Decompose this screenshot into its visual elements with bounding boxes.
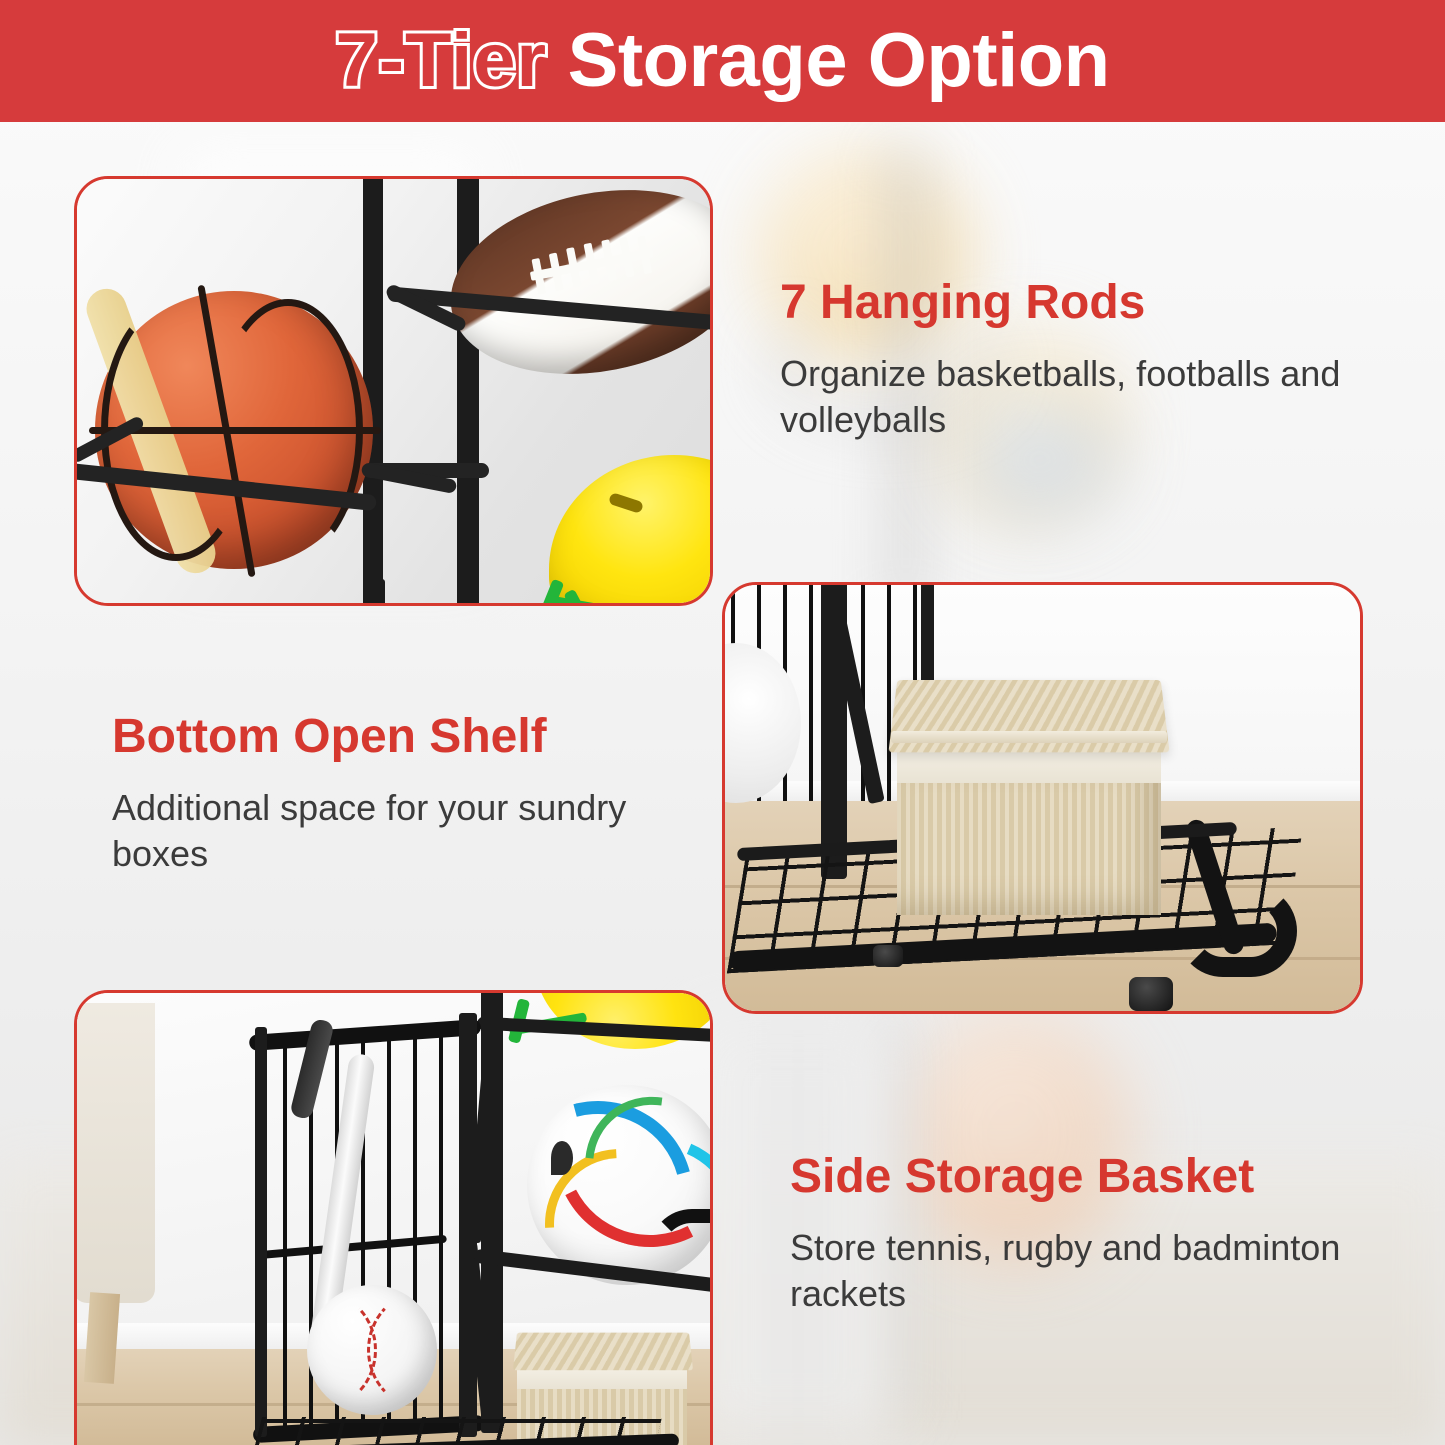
photo-panel-bottom-shelf bbox=[722, 582, 1363, 1014]
furniture-leg bbox=[84, 1292, 120, 1384]
baseball-stitching-right bbox=[367, 1291, 477, 1409]
page-title: 7-Tier Storage Option bbox=[335, 23, 1109, 99]
feature-title: Side Storage Basket bbox=[790, 1152, 1360, 1203]
soccer-brand-mark bbox=[551, 1141, 573, 1175]
feature-body: Organize basketballs, footballs and voll… bbox=[780, 351, 1380, 443]
rack-upright-lower bbox=[367, 579, 385, 603]
shelf-foot-front bbox=[873, 945, 903, 967]
feature-text-hanging-rods: 7 Hanging Rods Organize basketballs, foo… bbox=[780, 278, 1380, 443]
feature-title: Bottom Open Shelf bbox=[112, 712, 682, 763]
scene-side-basket bbox=[77, 993, 710, 1445]
basketball-seam-arc-right bbox=[213, 299, 363, 561]
shelf-frame-right-curve bbox=[1177, 885, 1297, 977]
floor-wicker-box-lid bbox=[513, 1333, 693, 1371]
wicker-storage-box-body bbox=[897, 773, 1161, 915]
shelf-foot-right bbox=[1129, 977, 1173, 1011]
helmet-vent bbox=[608, 492, 644, 514]
rack-upright-right bbox=[457, 179, 479, 603]
feature-title: 7 Hanging Rods bbox=[780, 278, 1380, 329]
baseball bbox=[307, 1285, 437, 1415]
wicker-box-lid-rim bbox=[891, 731, 1167, 743]
infographic-page: 7-Tier Storage Option bbox=[0, 0, 1445, 1445]
page-title-outline-part: 7-Tier bbox=[335, 18, 547, 103]
baseball-stitching-left bbox=[267, 1291, 377, 1409]
feature-text-side-basket: Side Storage Basket Store tennis, rugby … bbox=[790, 1152, 1360, 1317]
feature-body: Store tennis, rugby and badminton racket… bbox=[790, 1225, 1360, 1317]
basket-left-post bbox=[255, 1027, 267, 1437]
photo-panel-hanging-rods bbox=[74, 176, 713, 606]
scene-hanging-rods bbox=[77, 179, 710, 603]
page-title-solid-part: Storage Option bbox=[547, 18, 1110, 103]
scene-bottom-shelf bbox=[725, 585, 1360, 1011]
feature-text-bottom-shelf: Bottom Open Shelf Additional space for y… bbox=[112, 712, 682, 877]
feature-body: Additional space for your sundry boxes bbox=[112, 785, 682, 877]
header-banner: 7-Tier Storage Option bbox=[0, 0, 1445, 122]
furniture-cloth bbox=[77, 1003, 155, 1303]
photo-panel-side-basket bbox=[74, 990, 713, 1445]
